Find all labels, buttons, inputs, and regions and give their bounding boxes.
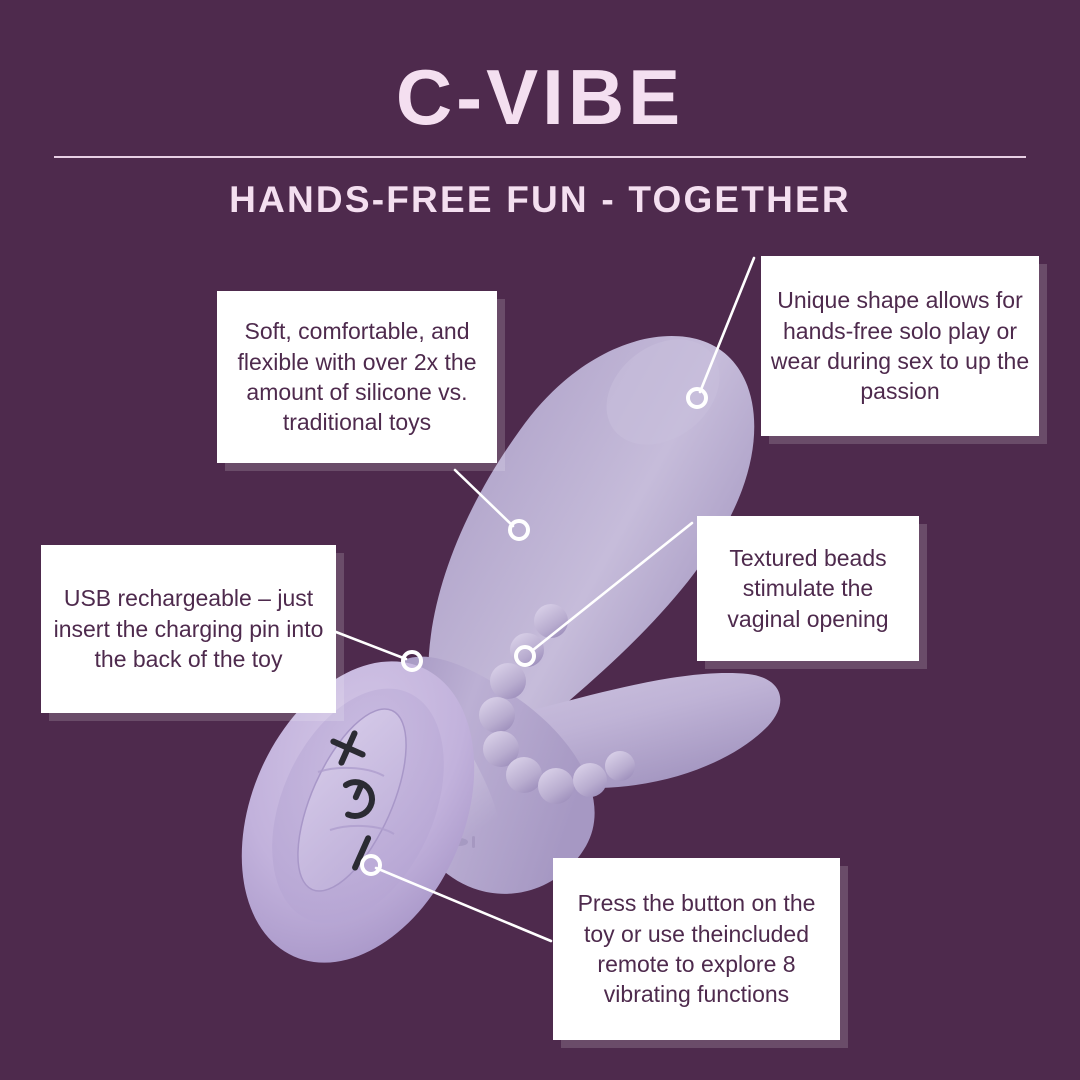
callout-soft-flexible: Soft, comfortable, and flexible with ove…: [217, 291, 497, 463]
callout-unique-shape-text: Unique shape allows for hands-free solo …: [761, 285, 1039, 406]
callout-usb-rechargeable-text: USB rechargeable – just insert the charg…: [41, 583, 336, 674]
callout-vibrating-functions-text: Press the button on the toy or use thein…: [553, 888, 840, 1009]
infographic-canvas: C-VIBE HANDS-FREE FUN - TOGETHER: [0, 0, 1080, 1080]
callout-textured-beads-text: Textured beads stimulate the vaginal ope…: [697, 543, 919, 634]
callout-unique-shape: Unique shape allows for hands-free solo …: [761, 256, 1039, 436]
callout-vibrating-functions: Press the button on the toy or use thein…: [553, 858, 840, 1040]
callout-soft-flexible-text: Soft, comfortable, and flexible with ove…: [217, 316, 497, 437]
callout-textured-beads: Textured beads stimulate the vaginal ope…: [697, 516, 919, 661]
callout-usb-rechargeable: USB rechargeable – just insert the charg…: [41, 545, 336, 713]
